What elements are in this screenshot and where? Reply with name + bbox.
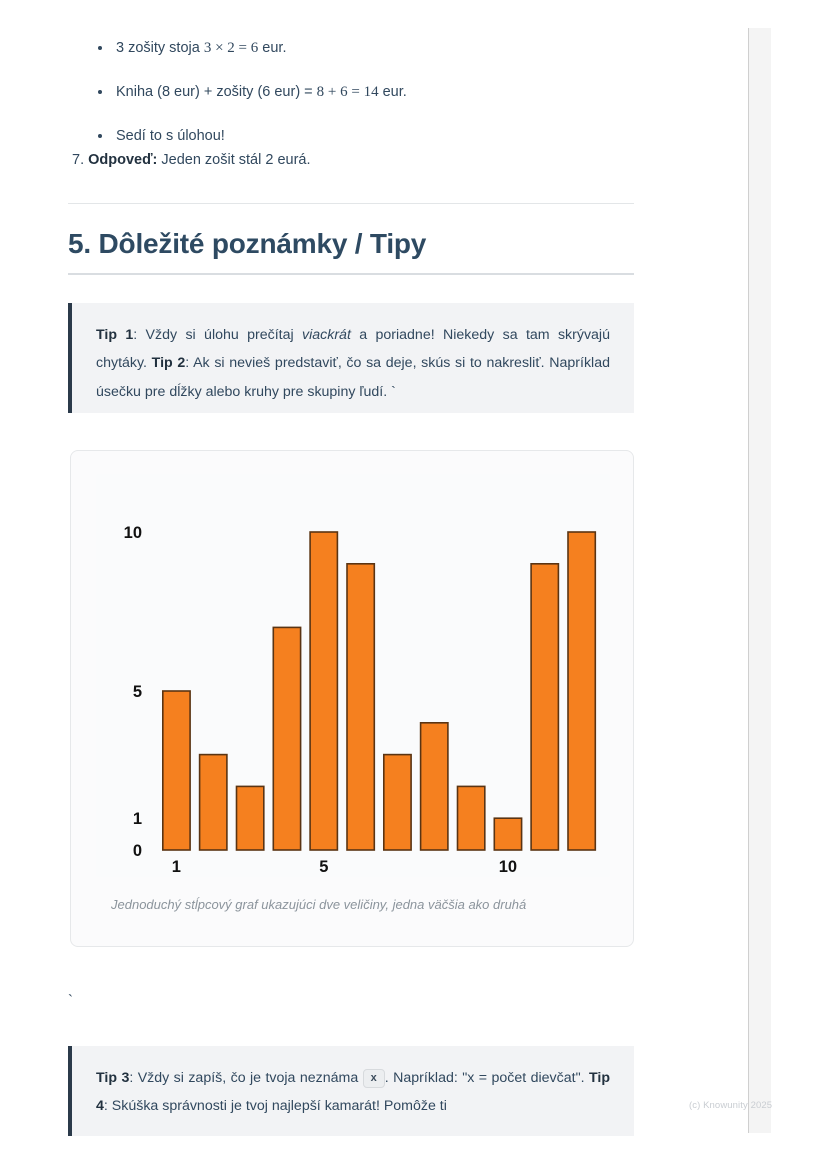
bar-4	[273, 627, 300, 850]
bar-3	[237, 786, 264, 850]
tip-3-text: : Vždy si zapíš, čo je tvoja neznáma	[129, 1070, 362, 1086]
bar-10	[494, 818, 521, 850]
x-tick-10: 10	[499, 858, 517, 876]
bar-chart: 105101510	[96, 474, 610, 877]
bullet-text-after: eur.	[258, 40, 286, 56]
tip-1-label: Tip 1	[96, 327, 133, 343]
unknown-variable-badge: x	[363, 1069, 385, 1088]
bullet-list: 3 zošity stoja 3 × 2 = 6 eur. Kniha (8 e…	[88, 38, 648, 169]
bullet-math: 8 + 6 = 14	[317, 84, 379, 100]
chart-plot-area: 105101510	[96, 474, 610, 877]
bullet-math: 3 × 2 = 6	[204, 40, 258, 56]
list-item: 3 zošity stoja 3 × 2 = 6 eur.	[88, 38, 648, 60]
heading-underline	[68, 273, 634, 275]
bar-11	[531, 564, 558, 850]
y-tick-5: 5	[133, 683, 142, 701]
answer-line: 7. Odpoveď: Jeden zošit stál 2 eurá.	[72, 150, 632, 171]
chart-caption: Jednoduchý stĺpcový graf ukazujúci dve v…	[111, 897, 611, 912]
x-tick-1: 1	[172, 858, 181, 876]
tip-callout-1: Tip 1: Vždy si úlohu prečítaj viackrát a…	[68, 303, 634, 413]
tip-3-rest: . Napríklad: "x = počet dievčat".	[385, 1070, 589, 1086]
bullet-text-before: 3 zošity stoja	[116, 40, 204, 56]
scrollbar-track[interactable]	[749, 28, 771, 1133]
x-tick-5: 5	[319, 858, 328, 876]
bar-5	[310, 532, 337, 850]
tip-callout-2-text: Tip 3: Vždy si zapíš, čo je tvoja neznám…	[96, 1064, 610, 1121]
chart-card: 105101510 Jednoduchý stĺpcový graf ukazu…	[70, 450, 634, 947]
tip-callout-1-text: Tip 1: Vždy si úlohu prečítaj viackrát a…	[96, 321, 610, 406]
list-item: Sedí to s úlohou!	[88, 126, 648, 147]
bar-6	[347, 564, 374, 850]
bar-1	[163, 691, 190, 850]
y-tick-1: 1	[133, 810, 142, 828]
bullet-text-before: Sedí to s úlohou!	[116, 128, 225, 144]
tip-2-label: Tip 2	[152, 355, 186, 371]
stray-backtick: `	[68, 992, 73, 1009]
answer-number: 7.	[72, 152, 88, 168]
watermark: (c) Knowunity 2025	[689, 1100, 772, 1111]
answer-label: Odpoveď:	[88, 152, 157, 168]
tip-callout-2: Tip 3: Vždy si zapíš, čo je tvoja neznám…	[68, 1046, 634, 1136]
section-divider-top	[68, 203, 634, 204]
tip-1-text: : Vždy si úlohu prečítaj	[133, 327, 302, 343]
bullet-text-before: Kniha (8 eur) + zošity (6 eur) =	[116, 84, 317, 100]
bar-2	[200, 755, 227, 850]
tip-3-label: Tip 3	[96, 1070, 129, 1086]
bullet-text-after: eur.	[379, 84, 407, 100]
bar-12	[568, 532, 595, 850]
answer-text: Jeden zošit stál 2 eurá.	[157, 152, 310, 168]
gutter-divider	[748, 28, 749, 1133]
tip-1-emphasis: viackrát	[302, 327, 351, 343]
y-tick-10: 10	[124, 524, 142, 542]
tip-4-text: : Skúška správnosti je tvoj najlepší kam…	[104, 1098, 447, 1114]
bar-9	[458, 786, 485, 850]
bar-7	[384, 755, 411, 850]
bar-8	[421, 723, 448, 850]
document-page: 3 zošity stoja 3 × 2 = 6 eur. Kniha (8 e…	[0, 0, 748, 1171]
list-item: Kniha (8 eur) + zošity (6 eur) = 8 + 6 =…	[88, 82, 648, 104]
y-tick-0: 0	[133, 842, 142, 860]
page-title: 5. Dôležité poznámky / Tipy	[68, 228, 426, 260]
